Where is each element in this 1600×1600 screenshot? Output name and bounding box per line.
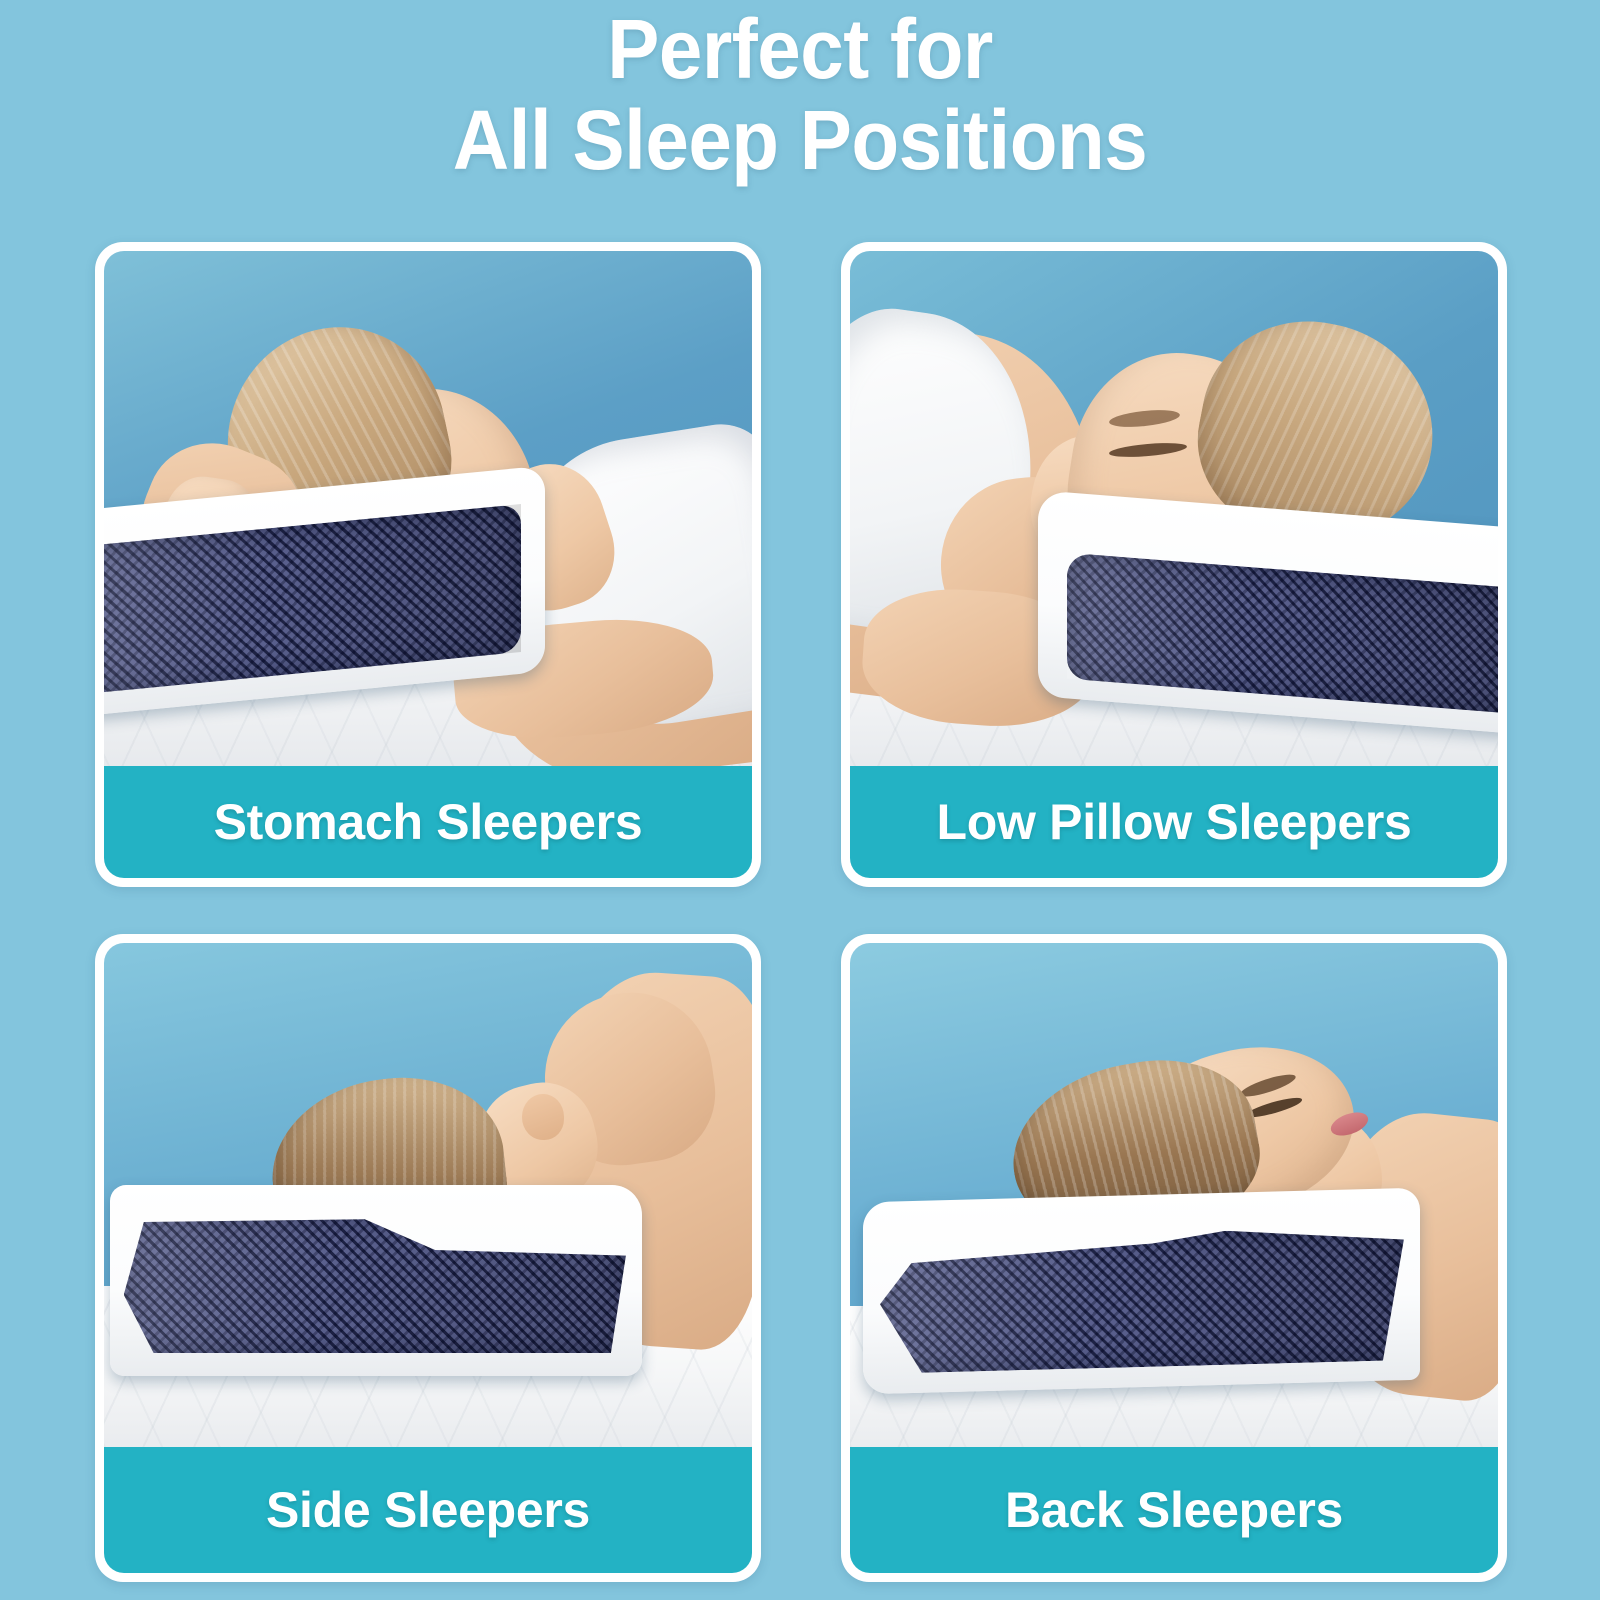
photo-back-sleeper [850,943,1498,1447]
sleep-position-card-grid: Stomach Sleepers Low [95,242,1507,1582]
card-inner: Side Sleepers [104,943,752,1573]
caption-stomach-sleepers: Stomach Sleepers [104,766,752,878]
card-inner: Low Pillow Sleepers [850,251,1498,878]
memory-foam-pillow [110,1185,641,1377]
page-title-line-1: Perfect for [56,4,1544,95]
card-inner: Stomach Sleepers [104,251,752,878]
card-side-sleepers[interactable]: Side Sleepers [95,934,761,1582]
caption-back-sleepers: Back Sleepers [850,1447,1498,1573]
memory-foam-pillow [104,488,545,694]
ear [522,1094,564,1139]
card-stomach-sleepers[interactable]: Stomach Sleepers [95,242,761,887]
photo-low-pillow-sleeper [850,251,1498,766]
card-inner: Back Sleepers [850,943,1498,1573]
page-title-line-2: All Sleep Positions [56,95,1544,186]
memory-foam-pillow [1038,509,1498,715]
card-back-sleepers[interactable]: Back Sleepers [841,934,1507,1582]
memory-foam-pillow [863,1195,1420,1387]
photo-side-sleeper [104,943,752,1447]
caption-side-sleepers: Side Sleepers [104,1447,752,1573]
card-low-pillow-sleepers[interactable]: Low Pillow Sleepers [841,242,1507,887]
photo-stomach-sleeper [104,251,752,766]
caption-low-pillow-sleepers: Low Pillow Sleepers [850,766,1498,878]
page-title: Perfect for All Sleep Positions [56,4,1544,185]
